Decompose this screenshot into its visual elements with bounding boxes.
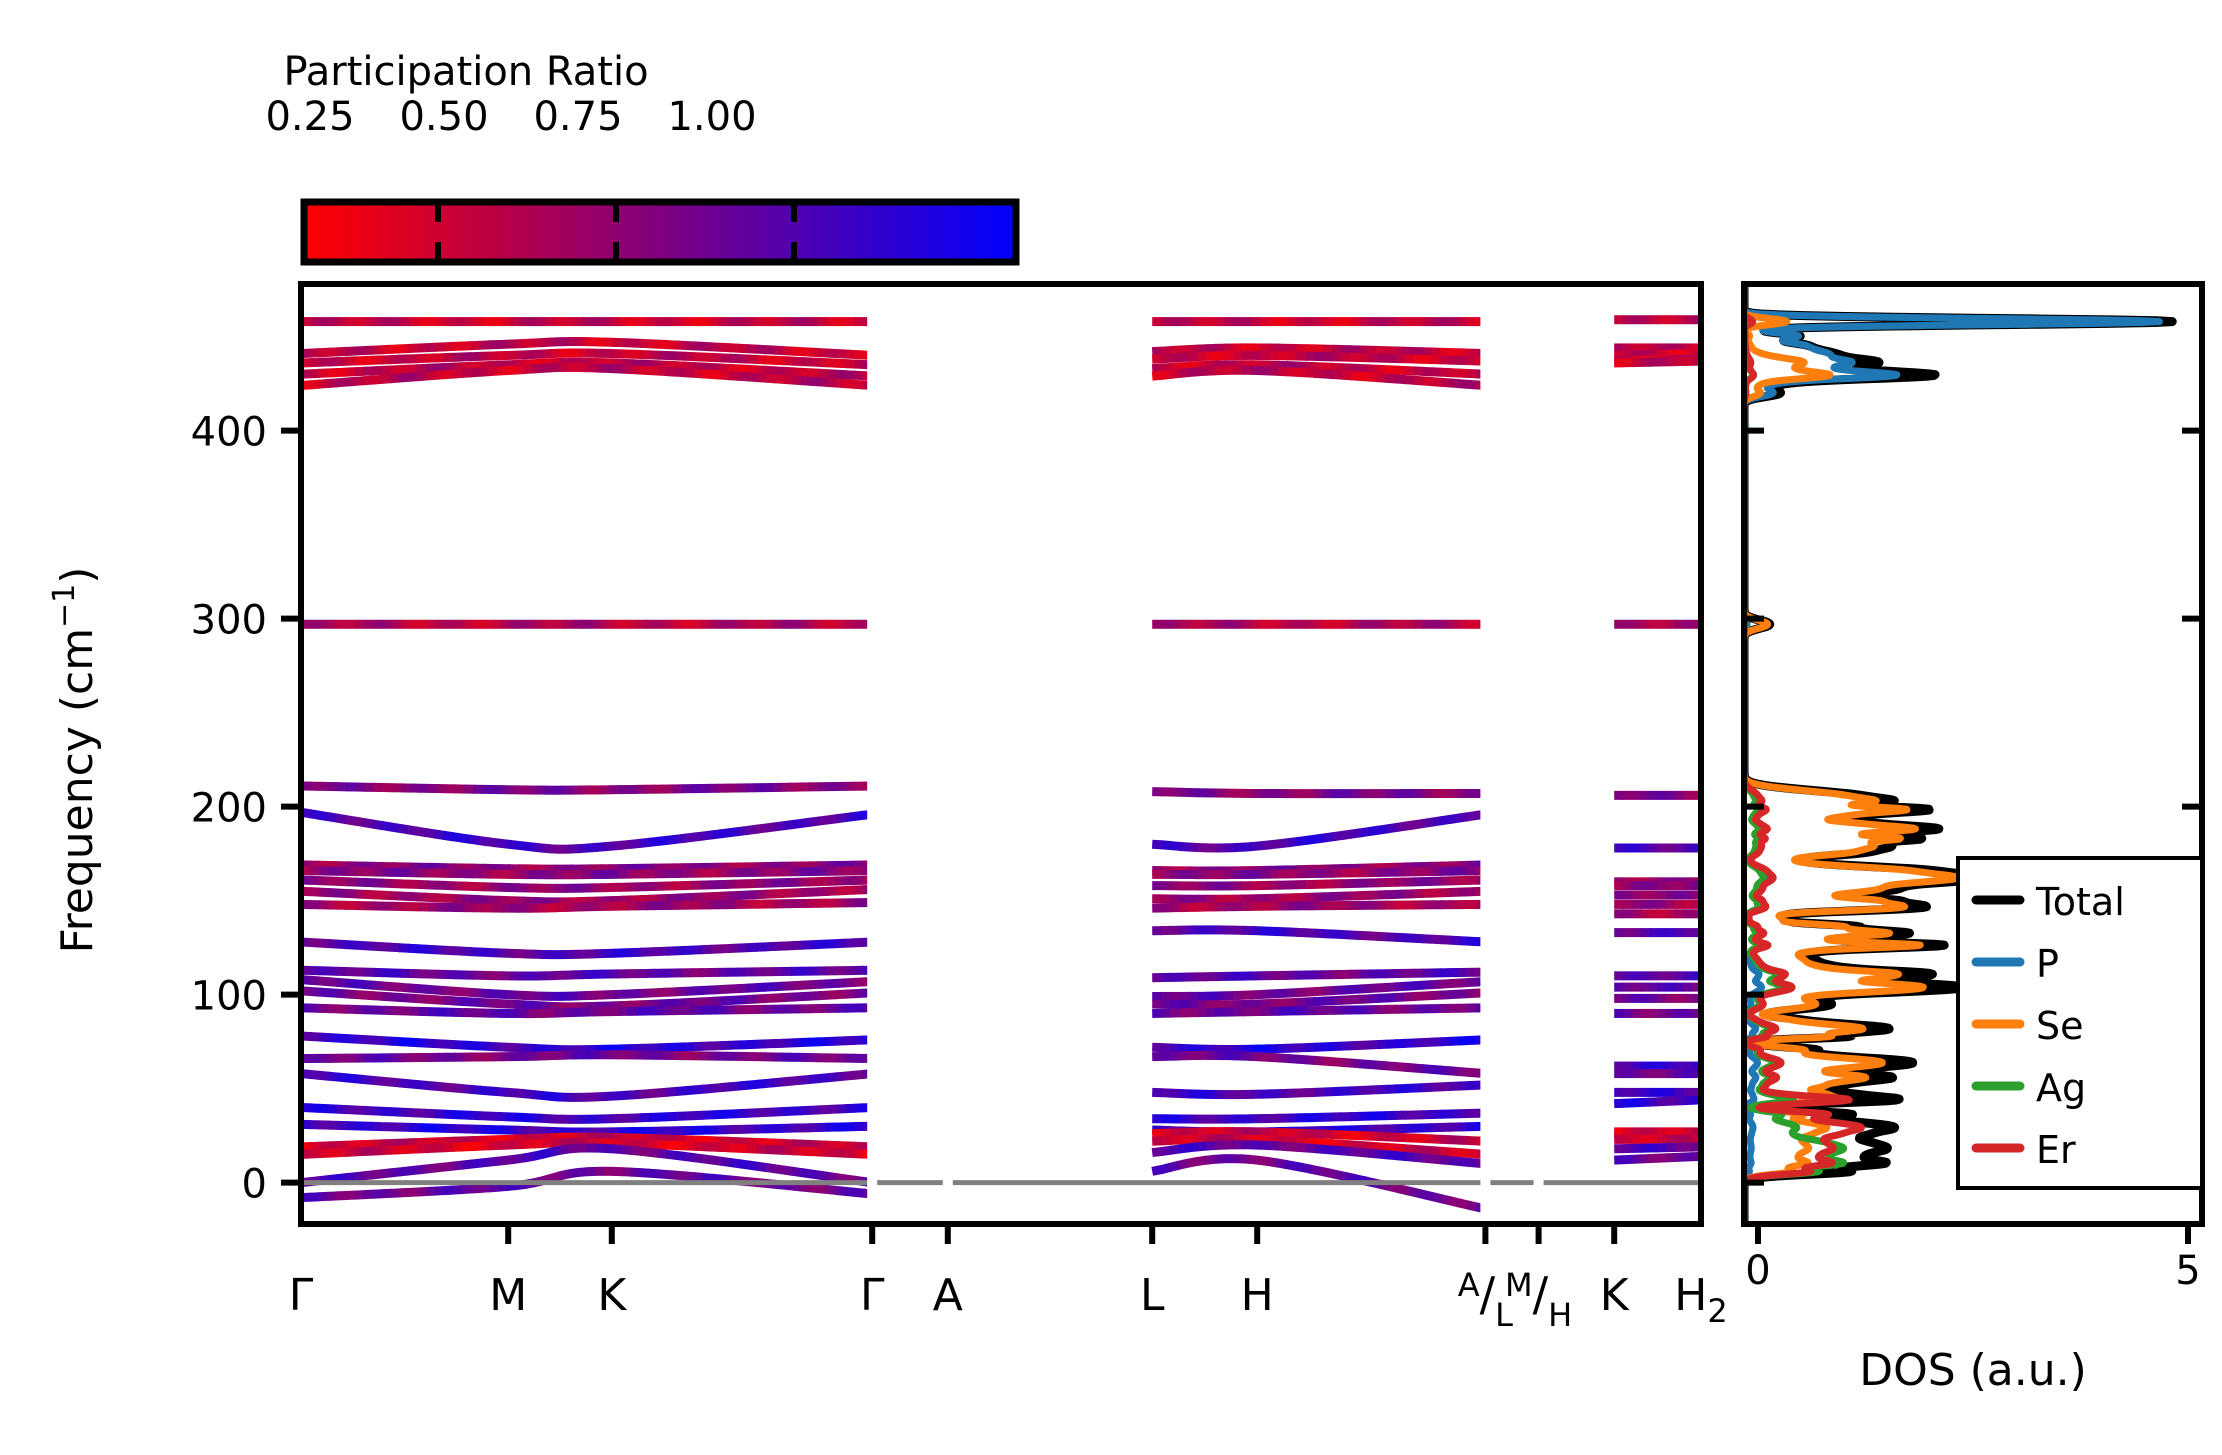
colorbar-tick-label-1: 0.50 [399, 94, 488, 140]
band-x-tick-label-1: M [489, 1270, 527, 1321]
band-curve [1152, 1008, 1485, 1014]
band-x-tick-label-5: L [1140, 1270, 1165, 1321]
band-curve [1152, 972, 1485, 978]
dos-x-axis-label: DOS (a.u.) [1859, 1345, 2087, 1396]
band-y-tick-label-1: 100 [191, 974, 267, 1020]
band-curve [301, 786, 872, 790]
band-curve [1614, 1100, 1701, 1104]
legend-label-p: P [2036, 942, 2059, 986]
y-axis-label-paren: ) [52, 567, 103, 584]
band-y-tick-label-3: 300 [191, 598, 267, 644]
band-plot-background [301, 284, 1701, 1224]
band-y-tick-label-0: 0 [242, 1162, 267, 1208]
band-x-tick-label-4: A [933, 1270, 963, 1321]
legend-label-total: Total [2035, 880, 2125, 924]
band-curve [1152, 792, 1485, 794]
band-curve [301, 1008, 872, 1014]
band-curve [1152, 871, 1485, 875]
colorbar-tick-label-3: 1.00 [667, 94, 756, 140]
band-curve [1152, 355, 1485, 361]
y-axis-label-exponent: −1 [47, 584, 82, 628]
band-curve [301, 1055, 872, 1059]
dos-x-tick-label-1: 5 [2175, 1248, 2200, 1294]
band-y-tick-label-4: 400 [191, 410, 267, 456]
band-x-tick-label-0: Γ [289, 1270, 314, 1321]
colorbar-tick-label-0: 0.25 [265, 94, 354, 140]
band-curve [1152, 904, 1485, 908]
phonon-band-dos-figure: Participation Ratio 0.25 0.50 0.75 1.00 … [0, 0, 2222, 1455]
band-x-tick-label-3: Γ [860, 1270, 885, 1321]
band-x-tick-label-2: K [597, 1270, 627, 1321]
legend-label-er: Er [2036, 1128, 2076, 1172]
band-curve [301, 970, 872, 976]
y-axis-label-main: Frequency (cm [52, 628, 103, 954]
band-curve [301, 871, 872, 875]
band-y-tick-label-2: 200 [191, 786, 267, 832]
band-curve [1614, 361, 1701, 363]
band-curve [1614, 1147, 1701, 1149]
dos-legend: TotalPSeAgEr [1958, 858, 2202, 1188]
colorbar-tick-label-2: 0.75 [533, 94, 622, 140]
colorbar-gradient [304, 202, 1016, 262]
band-x-tick-label-6: H [1241, 1270, 1274, 1321]
dos-x-tick-label-0: 0 [1745, 1248, 1770, 1294]
legend-label-se: Se [2036, 1004, 2084, 1048]
legend-label-ag: Ag [2036, 1066, 2086, 1110]
band-structure-panel: 0100200300400 ΓMKΓALHA/LM/HKH2 Frequency… [47, 284, 1728, 1334]
band-x-tick-label-9: K [1600, 1270, 1630, 1321]
band-curve [301, 903, 872, 909]
colorbar-title: Participation Ratio [283, 49, 648, 95]
band-curve [1614, 1156, 1701, 1160]
